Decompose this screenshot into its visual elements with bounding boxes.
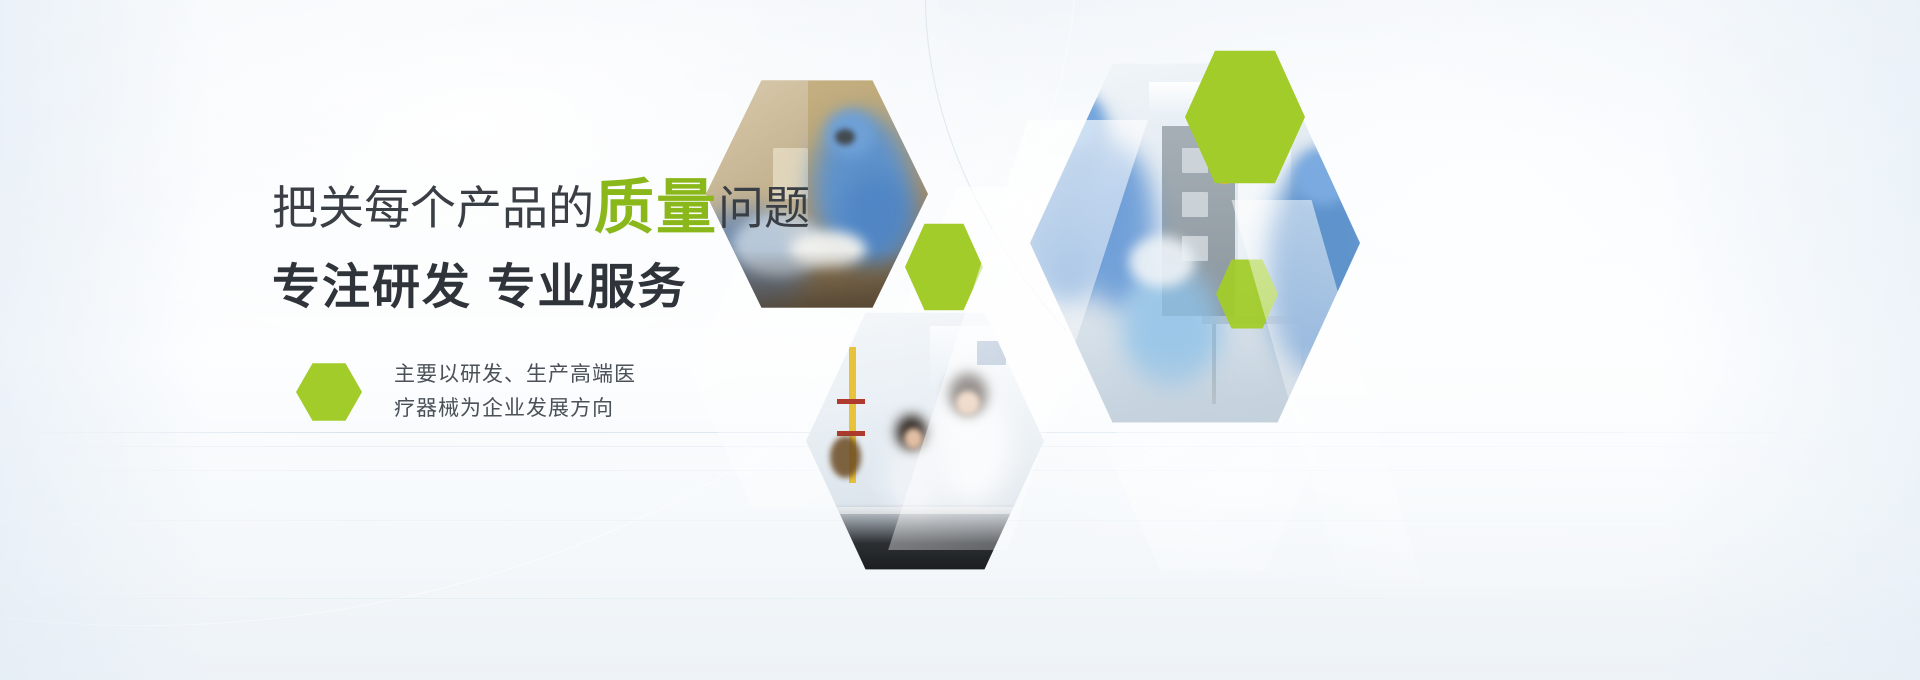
scientist-2-face: [904, 428, 923, 449]
subtitle-block: 主要以研发、生产高端医 疗器械为企业发展方向: [296, 358, 636, 426]
subtitle-line-1: 主要以研发、生产高端医: [394, 358, 636, 392]
headline-block: 把关每个产品的质量问题 专注研发 专业服务: [272, 178, 972, 312]
hexagon-icon: [296, 362, 362, 422]
lab-clamp-1: [837, 399, 866, 404]
subtitle-line-2: 疗器械为企业发展方向: [394, 392, 636, 426]
headline-line-1-accent: 质量: [594, 174, 718, 241]
lab-clamp-2: [837, 431, 866, 436]
team-worker-3-hood: [1294, 148, 1353, 207]
background-right-vignette: [1660, 0, 1920, 680]
lab-amber-flask: [830, 436, 861, 478]
background-horizon-line-5: [0, 598, 1920, 599]
headline-line-1-prefix: 把关每个产品的: [272, 182, 594, 234]
background-left-vignette: [0, 0, 210, 680]
hero-banner: 把关每个产品的质量问题 专注研发 专业服务 主要以研发、生产高端医 疗器械为企业…: [0, 0, 1920, 680]
headline-line-2: 专注研发 专业服务: [272, 264, 972, 312]
headline-line-1: 把关每个产品的质量问题: [272, 178, 972, 238]
worker-face-mask: [835, 129, 855, 145]
headline-line-1-suffix: 问题: [718, 182, 810, 234]
sign-char-2: [1182, 192, 1208, 218]
subtitle-text: 主要以研发、生产高端医 疗器械为企业发展方向: [394, 358, 636, 426]
equipment-white-box: [1129, 236, 1195, 287]
